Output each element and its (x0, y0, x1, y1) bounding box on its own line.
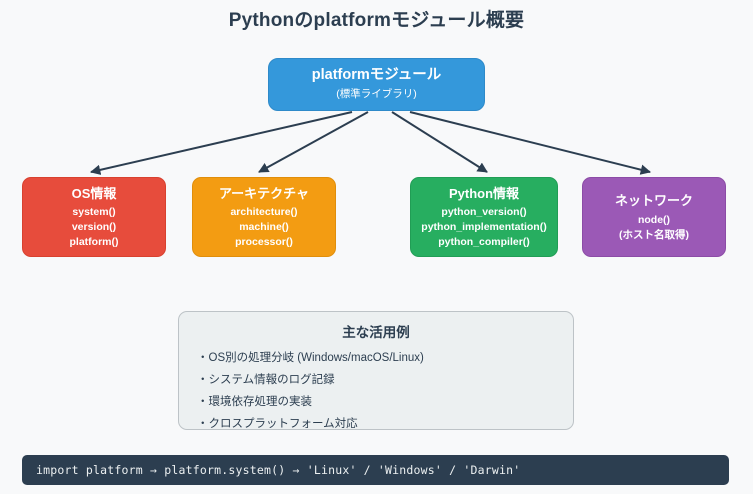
node-function-1: node() (638, 213, 670, 228)
node-architecture[interactable]: アーキテクチャ architecture() machine() process… (192, 177, 336, 257)
usage-list-item: ・システム情報のログ記録 (179, 369, 573, 391)
node-function-2: version() (72, 220, 116, 235)
node-function-3: platform() (70, 235, 119, 250)
connector-to-os (91, 112, 352, 172)
node-function-1: architecture() (230, 205, 297, 220)
diagram-canvas: Pythonのplatformモジュール概要 platformモジュール (標準… (0, 0, 753, 494)
usage-panel-title: 主な活用例 (179, 321, 573, 341)
page-title: Pythonのplatformモジュール概要 (0, 5, 753, 32)
node-title: Python情報 (449, 186, 519, 202)
node-network[interactable]: ネットワーク node() (ホスト名取得) (582, 177, 726, 257)
code-example-bar: import platform → platform.system() → 'L… (22, 455, 729, 485)
node-subtitle: (標準ライブラリ) (336, 87, 417, 102)
node-function-3: processor() (235, 235, 293, 250)
connector-to-network (410, 112, 650, 172)
node-function-2: (ホスト名取得) (619, 228, 689, 243)
node-title: ネットワーク (615, 193, 693, 209)
node-python-info[interactable]: Python情報 python_version() python_impleme… (410, 177, 558, 257)
connector-to-python (392, 112, 487, 172)
usage-list-item: ・環境依存処理の実装 (179, 391, 573, 413)
usage-list-item: ・クロスプラットフォーム対応 (179, 413, 573, 435)
node-function-3: python_compiler() (438, 235, 530, 250)
node-title: platformモジュール (312, 67, 442, 84)
node-platform-module[interactable]: platformモジュール (標準ライブラリ) (268, 58, 485, 111)
node-function-1: python_version() (441, 205, 526, 220)
node-function-2: machine() (239, 220, 289, 235)
usage-examples-panel: 主な活用例 ・OS別の処理分岐 (Windows/macOS/Linux) ・シ… (178, 311, 574, 430)
node-function-1: system() (72, 205, 115, 220)
connector-to-arch (259, 112, 368, 172)
node-os-info[interactable]: OS情報 system() version() platform() (22, 177, 166, 257)
node-title: OS情報 (72, 186, 117, 202)
usage-list-item: ・OS別の処理分岐 (Windows/macOS/Linux) (179, 347, 573, 369)
node-function-2: python_implementation() (421, 220, 546, 235)
node-title: アーキテクチャ (219, 186, 309, 202)
